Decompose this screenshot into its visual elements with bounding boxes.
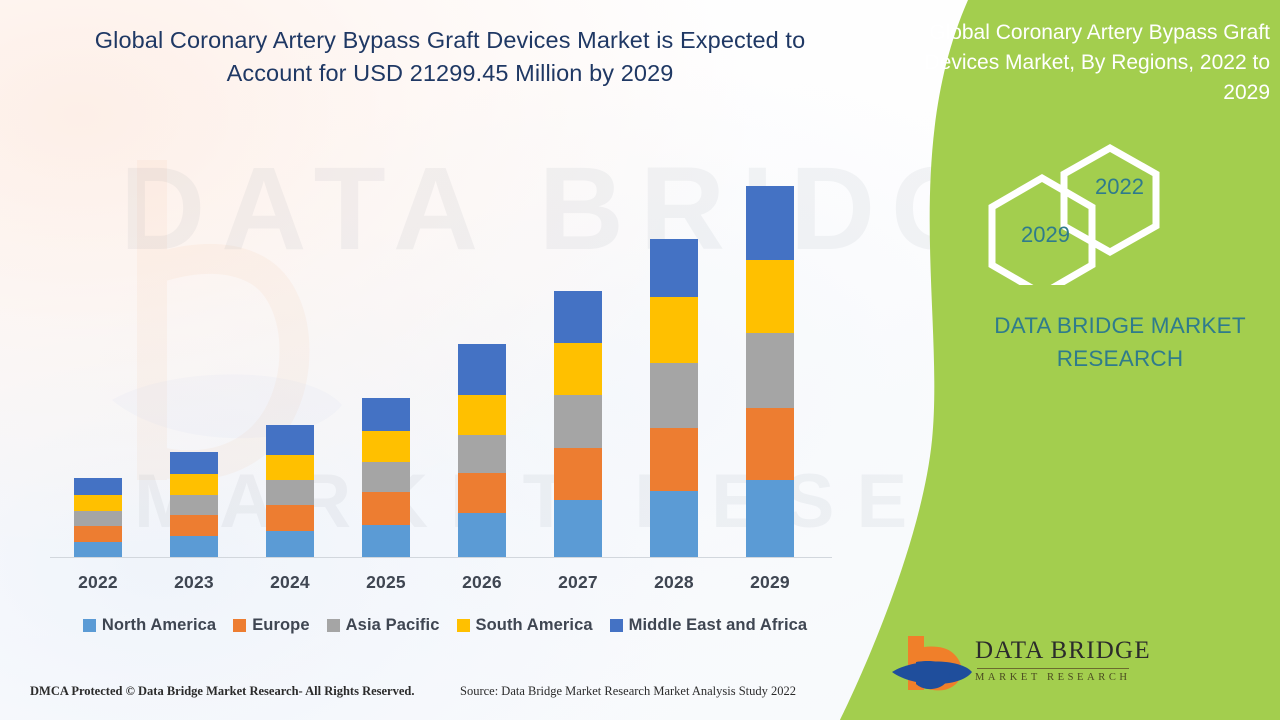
x-axis-label-2029: 2029 (722, 572, 818, 593)
bar-segment[interactable] (74, 526, 122, 542)
bar-segment[interactable] (74, 478, 122, 495)
stacked-bar-chart (50, 150, 840, 558)
legend-label: South America (476, 616, 593, 635)
bar-segment[interactable] (650, 491, 698, 557)
legend-label: North America (102, 616, 216, 635)
hex-2022-label: 2022 (1095, 174, 1144, 200)
bar-segment[interactable] (746, 260, 794, 333)
bar-segment[interactable] (74, 495, 122, 511)
green-panel-title: Global Coronary Artery Bypass Graft Devi… (890, 18, 1270, 107)
bar-segment[interactable] (170, 474, 218, 495)
page-title: Global Coronary Artery Bypass Graft Devi… (90, 24, 810, 91)
stacked-bar[interactable] (746, 186, 794, 557)
bar-segment[interactable] (458, 344, 506, 395)
bar-column-2027[interactable] (530, 150, 626, 557)
logo-divider (977, 668, 1129, 669)
bar-segment[interactable] (362, 492, 410, 525)
bar-segment[interactable] (362, 431, 410, 462)
bar-segment[interactable] (266, 505, 314, 531)
chart-legend: North AmericaEuropeAsia PacificSouth Ame… (50, 616, 840, 635)
bar-segment[interactable] (650, 428, 698, 491)
bar-segment[interactable] (458, 473, 506, 513)
stacked-bar[interactable] (266, 425, 314, 557)
legend-item[interactable]: Middle East and Africa (610, 616, 808, 635)
bars-container (50, 150, 840, 557)
chart-panel: DATA BRIDGE MARKET RESEARCH Global Coron… (0, 0, 1000, 720)
hex-2029-label: 2029 (1021, 222, 1070, 248)
bar-segment[interactable] (650, 239, 698, 297)
bar-segment[interactable] (650, 297, 698, 363)
stacked-bar[interactable] (362, 398, 410, 557)
bar-segment[interactable] (266, 455, 314, 480)
legend-label: Europe (252, 616, 309, 635)
bar-segment[interactable] (554, 343, 602, 395)
bar-segment[interactable] (362, 525, 410, 557)
hexagon-badges (980, 140, 1200, 285)
footer-copyright: DMCA Protected © Data Bridge Market Rese… (30, 684, 415, 699)
bar-column-2025[interactable] (338, 150, 434, 557)
legend-item[interactable]: South America (457, 616, 593, 635)
x-axis-labels: 20222023202420252026202720282029 (50, 572, 840, 593)
stacked-bar[interactable] (170, 452, 218, 557)
bar-segment[interactable] (554, 291, 602, 343)
bar-segment[interactable] (458, 435, 506, 473)
legend-swatch-icon (327, 619, 340, 632)
bar-segment[interactable] (170, 536, 218, 557)
bar-segment[interactable] (458, 513, 506, 557)
x-axis-line (50, 557, 832, 558)
x-axis-label-2023: 2023 (146, 572, 242, 593)
legend-item[interactable]: North America (83, 616, 216, 635)
legend-swatch-icon (610, 619, 623, 632)
stacked-bar[interactable] (650, 239, 698, 557)
bar-column-2022[interactable] (50, 150, 146, 557)
x-axis-label-2026: 2026 (434, 572, 530, 593)
legend-label: Asia Pacific (346, 616, 440, 635)
x-axis-label-2022: 2022 (50, 572, 146, 593)
x-axis-label-2028: 2028 (626, 572, 722, 593)
x-axis-label-2025: 2025 (338, 572, 434, 593)
logo-subtitle: MARKET RESEARCH (975, 673, 1175, 684)
stacked-bar[interactable] (554, 291, 602, 557)
bar-segment[interactable] (170, 515, 218, 536)
bar-column-2029[interactable] (722, 150, 818, 557)
bar-column-2024[interactable] (242, 150, 338, 557)
legend-swatch-icon (83, 619, 96, 632)
bar-segment[interactable] (266, 480, 314, 505)
bar-column-2026[interactable] (434, 150, 530, 557)
brand-name: DATA BRIDGE MARKET RESEARCH (960, 310, 1280, 375)
x-axis-label-2024: 2024 (242, 572, 338, 593)
bar-column-2028[interactable] (626, 150, 722, 557)
bar-column-2023[interactable] (146, 150, 242, 557)
bar-segment[interactable] (362, 462, 410, 492)
legend-swatch-icon (457, 619, 470, 632)
bar-segment[interactable] (554, 500, 602, 557)
bar-segment[interactable] (266, 531, 314, 557)
bar-segment[interactable] (650, 363, 698, 428)
bar-segment[interactable] (746, 333, 794, 408)
logo-title: DATA BRIDGE (975, 638, 1175, 663)
legend-item[interactable]: Europe (233, 616, 309, 635)
stacked-bar[interactable] (458, 344, 506, 557)
bar-segment[interactable] (170, 495, 218, 515)
bar-segment[interactable] (746, 480, 794, 557)
logo-text: DATA BRIDGE MARKET RESEARCH (975, 638, 1175, 684)
bar-segment[interactable] (554, 448, 602, 500)
bar-segment[interactable] (74, 511, 122, 526)
bar-segment[interactable] (554, 395, 602, 448)
stacked-bar[interactable] (74, 478, 122, 557)
bar-segment[interactable] (458, 395, 506, 435)
footer-source: Source: Data Bridge Market Research Mark… (460, 684, 796, 699)
legend-label: Middle East and Africa (629, 616, 808, 635)
legend-item[interactable]: Asia Pacific (327, 616, 440, 635)
bar-segment[interactable] (74, 542, 122, 557)
legend-swatch-icon (233, 619, 246, 632)
bar-segment[interactable] (746, 186, 794, 260)
bar-segment[interactable] (746, 408, 794, 480)
bar-segment[interactable] (266, 425, 314, 455)
bar-segment[interactable] (362, 398, 410, 431)
bar-segment[interactable] (170, 452, 218, 474)
x-axis-label-2027: 2027 (530, 572, 626, 593)
